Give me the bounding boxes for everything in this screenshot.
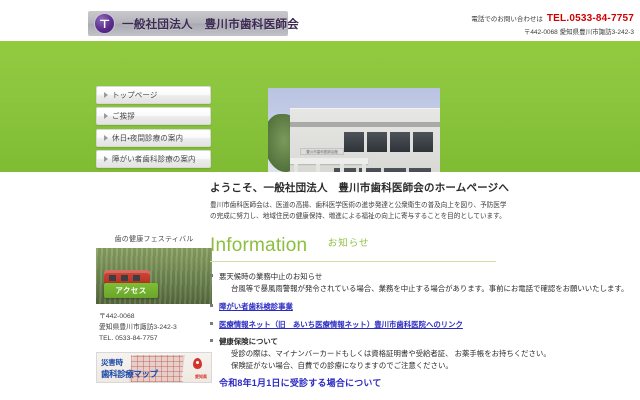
photo-window	[367, 132, 387, 152]
left-sidebar: 歯の健康フェスティバル アクセス 〒442-0068 愛知県豊川市諏訪3-242…	[96, 234, 212, 383]
news-body-line: 保険証がない場合、自費での診療になりますのでご注意ください。	[219, 360, 634, 372]
news-link-medical-info-net[interactable]: 医療情報ネット（旧 あいち医療情報ネット）豊川市歯科医院へのリンク	[219, 319, 634, 330]
list-item[interactable]: 障がい者歯科検診事業	[210, 301, 634, 312]
access-button-label: アクセス	[104, 283, 158, 298]
photo-building-sign-text: 豊川市歯科医師会館	[301, 149, 343, 156]
organization-name: 一般社団法人 豊川市歯科医師会	[122, 16, 299, 32]
train-window	[121, 275, 128, 281]
train-window	[133, 275, 140, 281]
intro-paragraph: 豊川市歯科医師会は、医道の高揚、歯科医学医術の進歩発達と公衆衛生の普及向上を図り…	[210, 201, 510, 222]
news-title: 健康保険について	[219, 336, 634, 347]
contact-label-row: 電話でのお問い合わせはTEL.0533-84-7757	[471, 12, 634, 27]
news-body: 受診の際は、マイナンバーカードもしくは資格証明書や受給者証、 お薬手帳をお持ちく…	[219, 348, 634, 372]
list-item: 健康保険について 受診の際は、マイナンバーカードもしくは資格証明書や受給者証、 …	[210, 336, 634, 389]
chevron-right-icon	[104, 113, 108, 119]
photo-entrance-canopy	[290, 158, 368, 164]
news-link-reiwa8-newyear-visit[interactable]: 令和8年1月1日に受診する場合について	[219, 376, 634, 389]
train-window	[109, 275, 116, 281]
festival-title: 歯の健康フェスティバル	[96, 234, 212, 244]
news-list: 悪天候時の業務中止のお知らせ 台風等で暴風雨警報が発令されている場合、業務を中止…	[210, 271, 634, 388]
news-body: 台風等で暴風雨警報が発令されている場合、業務を中止する場合があります。事前にお電…	[219, 283, 634, 295]
list-item[interactable]: 医療情報ネット（旧 あいち医療情報ネット）豊川市歯科医院へのリンク	[210, 319, 634, 330]
news-body-line: 受診の際は、マイナンバーカードもしくは資格証明書や受給者証、 お薬手帳をお持ちく…	[219, 348, 634, 360]
map-banner-line2: 歯科診療マップ	[101, 368, 158, 380]
page-root: ⊤ 一般社団法人 豊川市歯科医師会 電話でのお問い合わせはTEL.0533-84…	[0, 0, 640, 400]
nav-label: 障がい者歯科診療の案内	[112, 154, 196, 165]
photo-window	[413, 132, 433, 152]
information-heading-jp: お知らせ	[328, 235, 370, 249]
organization-logo-icon: ⊤	[94, 13, 115, 34]
access-photo-card: アクセス	[96, 248, 212, 304]
sidebar-item-greeting[interactable]: ご挨拶	[96, 107, 211, 125]
map-banner-line1: 災害時	[101, 357, 123, 368]
photo-window	[344, 132, 364, 152]
map-pin-icon	[193, 358, 202, 369]
contact-telephone: TEL.0533-84-7757	[547, 13, 634, 24]
nav-label: ご挨拶	[112, 111, 135, 122]
header-contact-block: 電話でのお問い合わせはTEL.0533-84-7757 〒442-0068 愛知…	[471, 12, 634, 37]
photo-window	[390, 132, 410, 152]
bullet-icon	[210, 322, 213, 325]
nav-label: トップページ	[112, 90, 157, 101]
address-postal-code: 〒442-0068	[99, 311, 212, 322]
news-body-line: 台風等で暴風雨警報が発令されている場合、業務を中止する場合があります。事前にお電…	[219, 283, 634, 295]
list-item: 悪天候時の業務中止のお知らせ 台風等で暴風雨警報が発令されている場合、業務を中止…	[210, 271, 634, 295]
map-banner-badge: 愛知県	[195, 374, 207, 380]
address-telephone: TEL. 0533-84-7757	[99, 333, 212, 344]
bullet-icon	[210, 304, 213, 307]
page-title: ようこそ、一般社団法人 豊川市歯科医師会のホームページへ	[210, 180, 634, 195]
bullet-icon	[210, 339, 213, 342]
hero-band: トップページ ご挨拶 休日・夜間診療の案内 障がい者歯科診療の案内 事業概要 市…	[0, 41, 640, 172]
news-link-disability-dental-checkup[interactable]: 障がい者歯科検診事業	[219, 301, 634, 312]
information-section-heading: Information お知らせ	[210, 235, 496, 262]
photo-facade-band	[290, 122, 440, 127]
photo-window-row-upper	[344, 132, 433, 152]
contact-postal-address: 〒442-0068 愛知県豊川市諏訪3-242-3	[471, 28, 634, 37]
nav-label: 休日・夜間診療の案内	[112, 132, 183, 143]
sidebar-address-block: 〒442-0068 愛知県豊川市諏訪3-242-3 TEL. 0533-84-7…	[96, 311, 212, 344]
photo-building-sign: 豊川市歯科医師会館	[300, 148, 344, 155]
logo-glyph: ⊤	[95, 14, 114, 33]
chevron-right-icon	[104, 156, 108, 162]
chevron-right-icon	[104, 92, 108, 98]
bullet-icon	[210, 274, 213, 277]
sidebar-item-top-page[interactable]: トップページ	[96, 86, 211, 104]
sidebar-item-holiday-night-care[interactable]: 休日・夜間診療の案内	[96, 129, 211, 147]
disaster-dental-map-banner[interactable]: 災害時 歯科診療マップ 愛知県	[96, 352, 212, 383]
access-button[interactable]: アクセス	[104, 283, 158, 298]
contact-label: 電話でのお問い合わせは	[471, 16, 543, 23]
site-header: ⊤ 一般社団法人 豊川市歯科医師会 電話でのお問い合わせはTEL.0533-84…	[0, 0, 640, 41]
information-heading-en: Information	[210, 235, 307, 257]
news-title: 悪天候時の業務中止のお知らせ	[219, 271, 634, 282]
page-body: 歯の健康フェスティバル アクセス 〒442-0068 愛知県豊川市諏訪3-242…	[0, 172, 640, 400]
sidebar-item-disability-dental-care[interactable]: 障がい者歯科診療の案内	[96, 150, 211, 168]
chevron-right-icon	[104, 135, 108, 141]
address-street: 愛知県豊川市諏訪3-242-3	[99, 322, 212, 333]
main-content: ようこそ、一般社団法人 豊川市歯科医師会のホームページへ 豊川市歯科医師会は、医…	[210, 180, 634, 395]
